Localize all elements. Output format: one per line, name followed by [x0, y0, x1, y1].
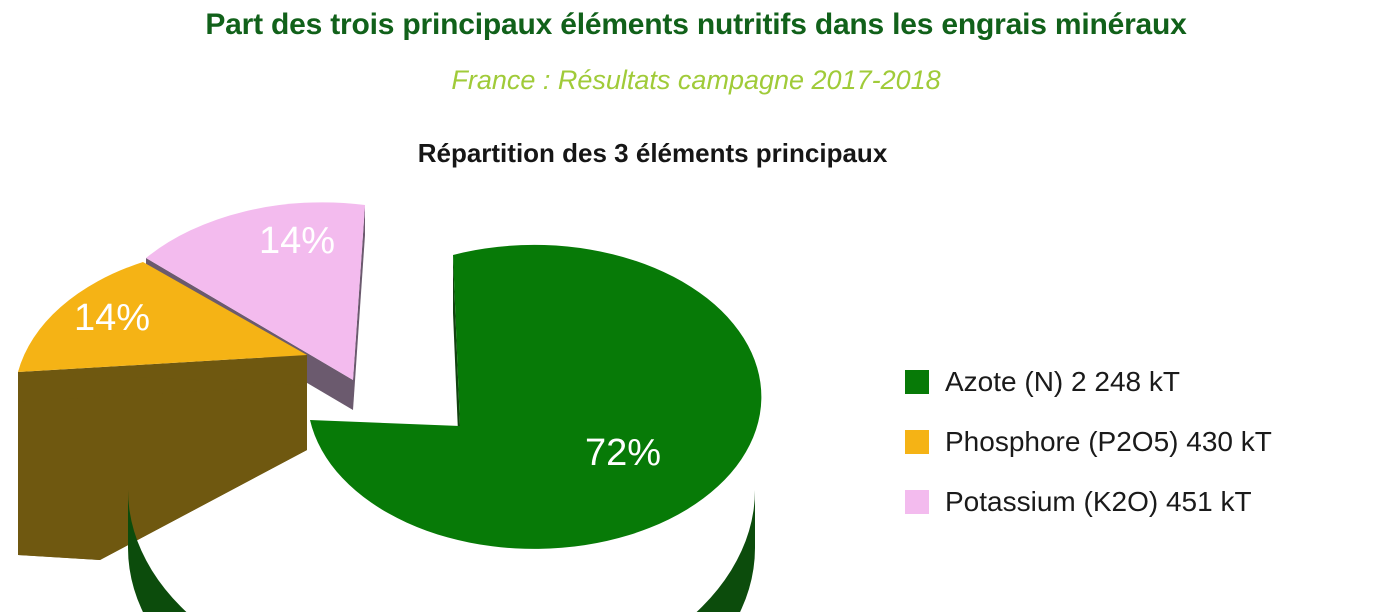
page-subtitle: France : Résultats campagne 2017-2018: [0, 63, 1392, 97]
pie-slice-phosphore-label: 14%: [74, 297, 150, 339]
legend-label-phosphore: Phosphore (P2O5) 430 kT: [945, 426, 1272, 458]
legend-item-potassium[interactable]: Potassium (K2O) 451 kT: [905, 472, 1375, 532]
pie-slice-potassium-label: 14%: [259, 220, 335, 262]
page-title: Part des trois principaux éléments nutri…: [0, 6, 1392, 44]
pie-slice-phosphore-side-lower: [18, 385, 307, 560]
chart-page: Part des trois principaux éléments nutri…: [0, 0, 1392, 612]
pie-slice-azote-label: 72%: [585, 432, 661, 474]
legend-swatch-potassium: [905, 490, 929, 514]
pie-chart-svg: 14% 14% 72%: [0, 180, 900, 612]
chart-legend: Azote (N) 2 248 kT Phosphore (P2O5) 430 …: [905, 352, 1375, 532]
legend-item-azote[interactable]: Azote (N) 2 248 kT: [905, 352, 1375, 412]
chart-title: Répartition des 3 éléments principaux: [0, 137, 1305, 169]
pie-slice-azote-top: [310, 245, 761, 549]
legend-label-potassium: Potassium (K2O) 451 kT: [945, 486, 1252, 518]
legend-swatch-phosphore: [905, 430, 929, 454]
legend-item-phosphore[interactable]: Phosphore (P2O5) 430 kT: [905, 412, 1375, 472]
legend-swatch-azote: [905, 370, 929, 394]
legend-label-azote: Azote (N) 2 248 kT: [945, 366, 1180, 398]
pie-chart: 14% 14% 72%: [0, 180, 900, 612]
